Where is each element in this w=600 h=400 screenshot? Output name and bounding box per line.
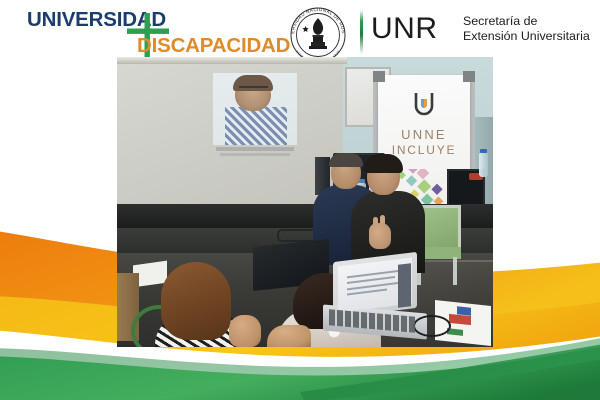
projected-caption-line-2 xyxy=(220,153,290,156)
logo-word-discapacidad: DISCAPACIDAD xyxy=(137,34,290,58)
laptop-screen-sidebar xyxy=(398,263,411,308)
chair-leg xyxy=(453,257,457,285)
unr-subtitle-line2: Extensión Universitaria xyxy=(463,29,590,44)
banner-text-unne: UNNE xyxy=(378,127,470,142)
unr-torch-seal-icon: UNIVERSIDAD NACIONAL DE ROSARIO · SECRET… xyxy=(287,6,349,64)
gesturing-hand xyxy=(369,223,391,249)
screen-top-rail xyxy=(117,57,347,64)
woman-white-lace-shoulder xyxy=(267,325,311,347)
man-navy-shirt-hair xyxy=(329,153,363,167)
unr-acronym: UNR xyxy=(371,11,438,47)
unr-subtitle-line1: Secretaría de xyxy=(463,14,590,29)
water-bottle xyxy=(479,153,488,177)
projected-caption-line xyxy=(216,147,294,151)
projected-person-torso xyxy=(225,107,287,145)
coiled-cable xyxy=(413,315,451,337)
green-swoosh xyxy=(0,338,600,400)
banner-clip-top-right xyxy=(463,71,475,82)
poster-canvas: UNIVERSIDAD DISCAPACIDAD UNIVERSIDAD NAC… xyxy=(0,0,600,400)
woman-floral-dress-hair xyxy=(161,262,231,340)
man-dark-tshirt-hair xyxy=(364,154,403,173)
universidad-discapacidad-logo: UNIVERSIDAD DISCAPACIDAD xyxy=(27,8,287,58)
unr-subtitle: Secretaría de Extensión Universitaria xyxy=(463,14,590,43)
meeting-room-photograph: UNNE INCLUYE xyxy=(117,57,493,347)
banner-clip-top-left xyxy=(373,71,385,82)
green-swoosh-dark xyxy=(300,338,600,400)
bottle-cap xyxy=(480,149,487,153)
unr-logo-group: UNIVERSIDAD NACIONAL DE ROSARIO · SECRET… xyxy=(287,4,587,64)
logo-divider xyxy=(360,10,363,54)
projected-person-glasses xyxy=(239,86,268,94)
unne-u-icon xyxy=(413,91,435,117)
woman-floral-dress-arm xyxy=(229,315,261,347)
